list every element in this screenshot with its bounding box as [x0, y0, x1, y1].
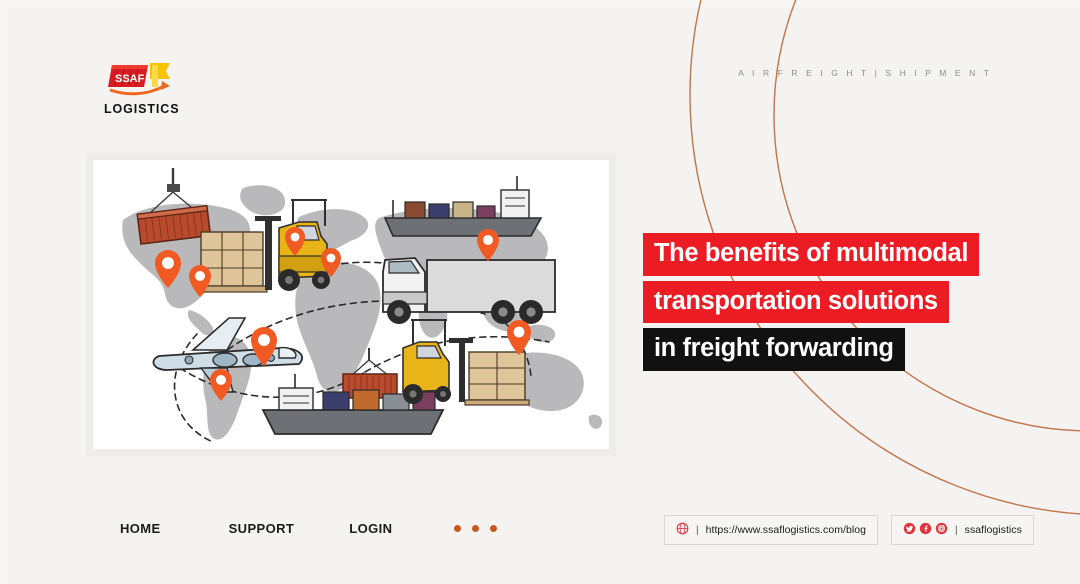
website-badge-url: https://www.ssaflogistics.com/blog	[706, 524, 866, 536]
instagram-icon[interactable]	[935, 522, 948, 538]
nav-dots[interactable]	[454, 525, 497, 532]
page-edge-left	[0, 0, 8, 584]
svg-text:SSAF: SSAF	[115, 73, 145, 85]
bottom-nav: HOME SUPPORT LOGIN	[120, 521, 497, 536]
nav-dot-2[interactable]	[472, 525, 479, 532]
social-badge-separator: |	[955, 525, 958, 536]
hero-image-card	[86, 153, 616, 456]
social-badge[interactable]: | ssaflogistics	[891, 515, 1034, 545]
nav-login[interactable]: LOGIN	[349, 521, 392, 536]
headline-block: The benefits of multimodal transportatio…	[643, 233, 1043, 371]
nav-dot-1[interactable]	[454, 525, 461, 532]
headline-line-1: The benefits of multimodal	[643, 233, 979, 276]
website-badge-separator: |	[696, 525, 699, 536]
social-icon-row[interactable]	[903, 522, 948, 538]
headline-line-3: in freight forwarding	[643, 328, 905, 371]
brand-logo[interactable]: SSAF LOGISTICS	[104, 57, 244, 119]
website-badge[interactable]: | https://www.ssaflogistics.com/blog	[664, 515, 878, 545]
nav-home[interactable]: HOME	[120, 521, 161, 536]
world-map-illustration	[93, 160, 609, 449]
nav-dot-3[interactable]	[490, 525, 497, 532]
eyebrow-label: A I R F R E I G H T | S H I P M E N T	[738, 68, 992, 78]
social-badge-handle: ssaflogistics	[965, 524, 1022, 536]
ssaf-container-arrow-logo: SSAF	[106, 57, 178, 99]
footer-badges: | https://www.ssaflogistics.com/blog	[664, 515, 1034, 545]
headline-line-2: transportation solutions	[643, 281, 949, 324]
nav-support[interactable]: SUPPORT	[229, 521, 295, 536]
facebook-icon[interactable]	[919, 522, 932, 538]
poster-canvas: SSAF LOGISTICS A I R F R E I G H T | S H…	[0, 0, 1080, 584]
twitter-icon[interactable]	[903, 522, 916, 538]
page-edge-top	[0, 0, 1080, 7]
brand-logo-wordmark: LOGISTICS	[104, 102, 244, 116]
globe-icon	[676, 522, 689, 538]
